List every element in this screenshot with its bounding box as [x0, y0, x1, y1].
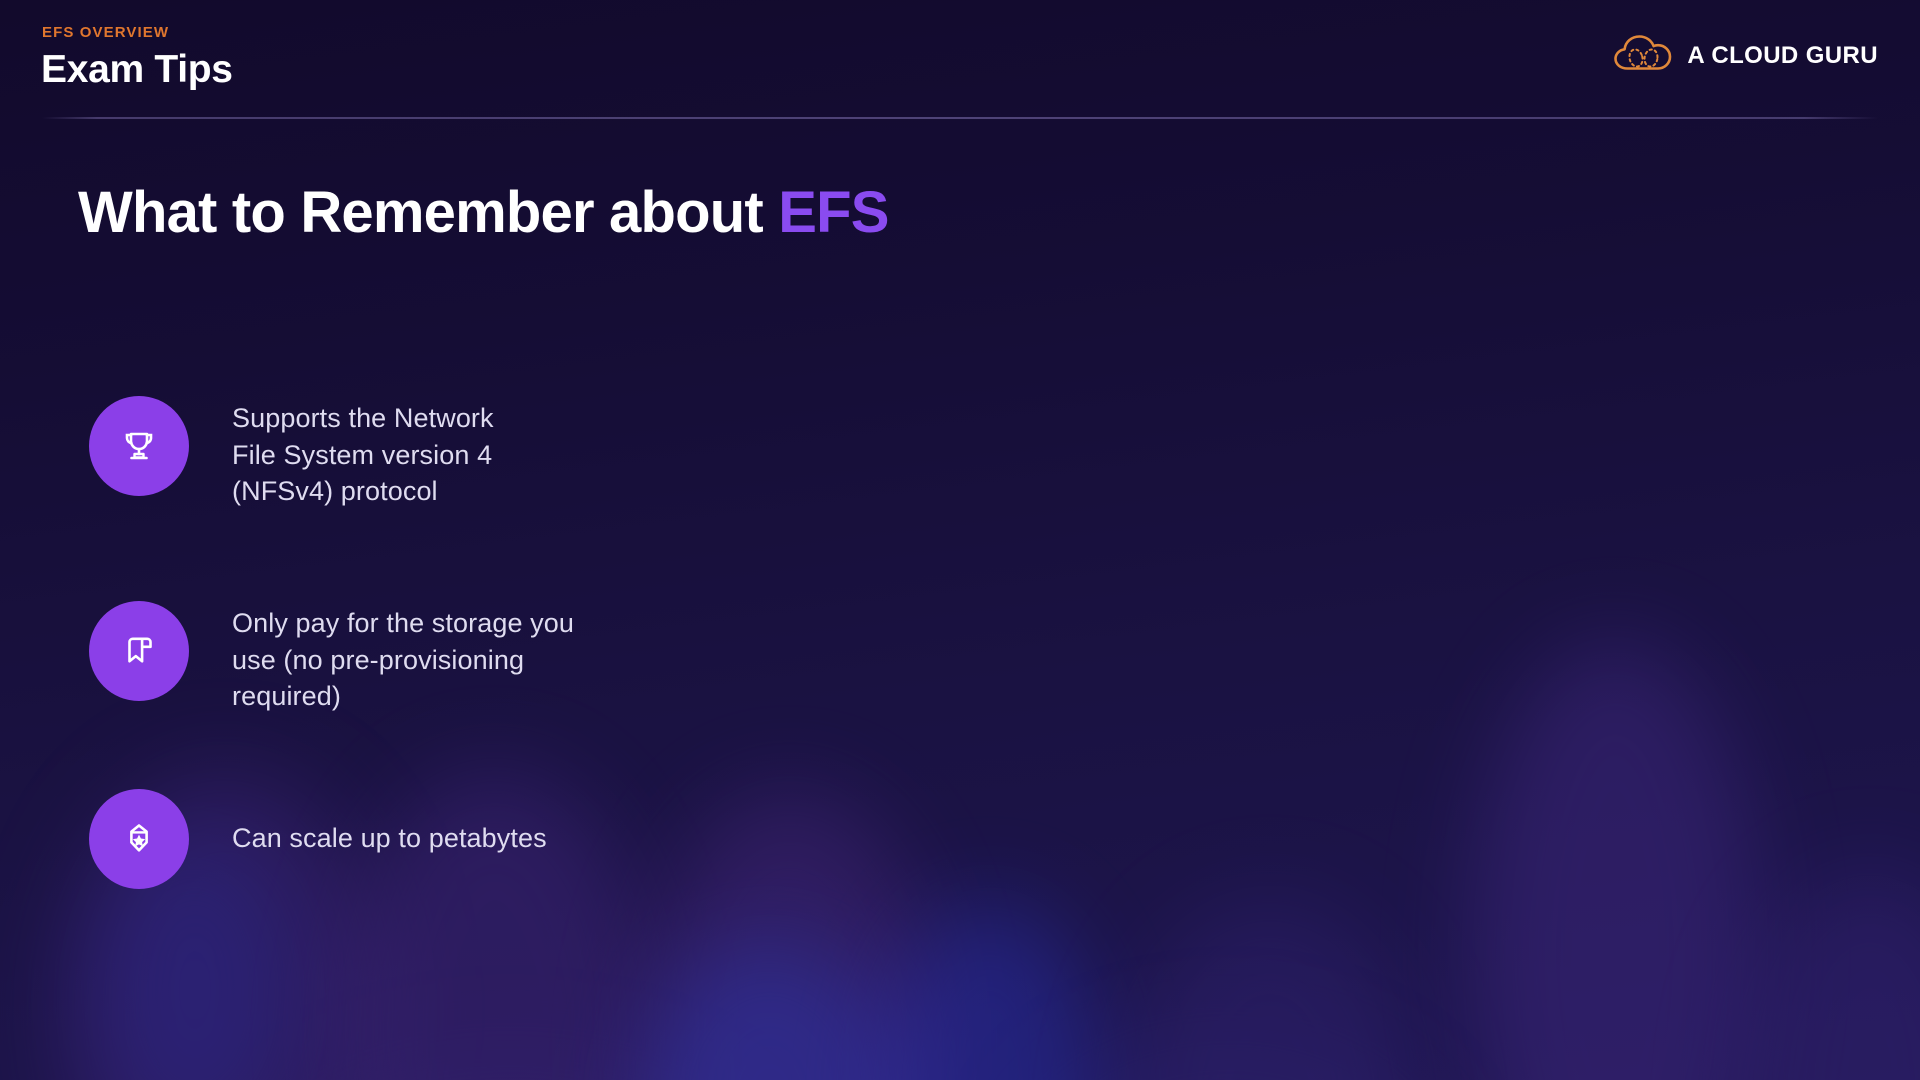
background-decoration — [0, 0, 1920, 1080]
tip-badge — [89, 789, 189, 889]
header-divider — [42, 117, 1878, 119]
background-blob — [1740, 870, 1920, 1080]
background-blob — [640, 940, 900, 1080]
page-title: Exam Tips — [41, 48, 233, 92]
brand-lockup: A CLOUD GURU — [1613, 34, 1878, 77]
tip-text: Only pay for the storage you use (no pre… — [232, 601, 574, 715]
slide-canvas: EFS OVERVIEW Exam Tips A CLOUD GURU What… — [0, 0, 1920, 1080]
tip-badge — [89, 396, 189, 496]
bookmark-icon — [117, 629, 161, 673]
slide-header: EFS OVERVIEW Exam Tips A CLOUD GURU — [0, 0, 1920, 120]
background-blob — [1470, 640, 1760, 1080]
shield-star-icon — [117, 817, 161, 861]
headline-accent: EFS — [778, 180, 888, 245]
brand-name: A CLOUD GURU — [1687, 42, 1878, 70]
background-blob — [1020, 1040, 1440, 1080]
list-item: Can scale up to petabytes — [89, 789, 547, 889]
headline-lead: What to Remember about — [78, 180, 778, 245]
list-item: Only pay for the storage you use (no pre… — [89, 601, 574, 715]
tip-text: Can scale up to petabytes — [232, 789, 547, 857]
background-blob — [1120, 900, 1420, 1080]
list-item: Supports the Network File System version… — [89, 396, 494, 510]
tip-badge — [89, 601, 189, 701]
eyebrow-label: EFS OVERVIEW — [42, 24, 169, 41]
cloud-icon — [1613, 34, 1673, 77]
background-blob — [880, 900, 1100, 1080]
headline: What to Remember about EFS — [78, 179, 889, 246]
background-blob — [250, 1060, 770, 1080]
trophy-icon — [117, 424, 161, 468]
tip-text: Supports the Network File System version… — [232, 396, 494, 510]
background-blob — [640, 790, 940, 1080]
